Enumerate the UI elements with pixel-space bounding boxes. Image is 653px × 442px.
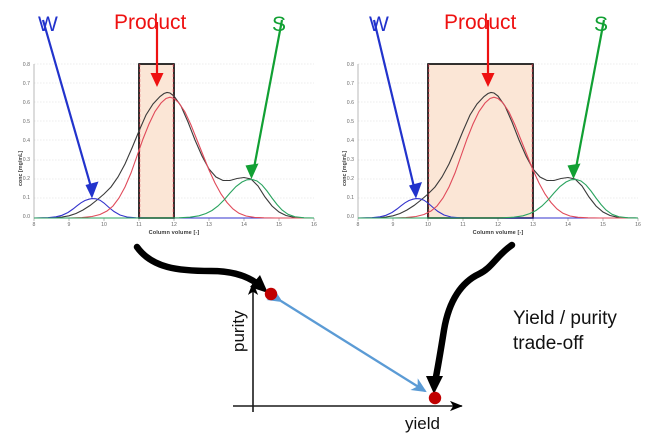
figure-canvas: conc [mg/mL] Column volume [-] 0.8 0.7 0… <box>0 0 653 442</box>
tradeoff-connector-arrow <box>281 301 425 391</box>
tradeoff-point-high-yield[interactable] <box>429 392 441 404</box>
tradeoff-y-axis-label: purity <box>229 310 249 352</box>
tradeoff-axes <box>233 283 462 412</box>
tradeoff-x-axis-label: yield <box>405 414 440 434</box>
transition-arrow-right-head <box>426 376 443 394</box>
tradeoff-note-line-1: Yield / purity <box>513 307 617 331</box>
transition-arrow-left <box>137 247 259 285</box>
transition-arrow-right <box>435 245 512 382</box>
tradeoff-point-high-purity[interactable] <box>265 288 277 300</box>
tradeoff-note-line-2: trade-off <box>513 332 583 356</box>
tradeoff-diagram-layer <box>0 0 653 442</box>
